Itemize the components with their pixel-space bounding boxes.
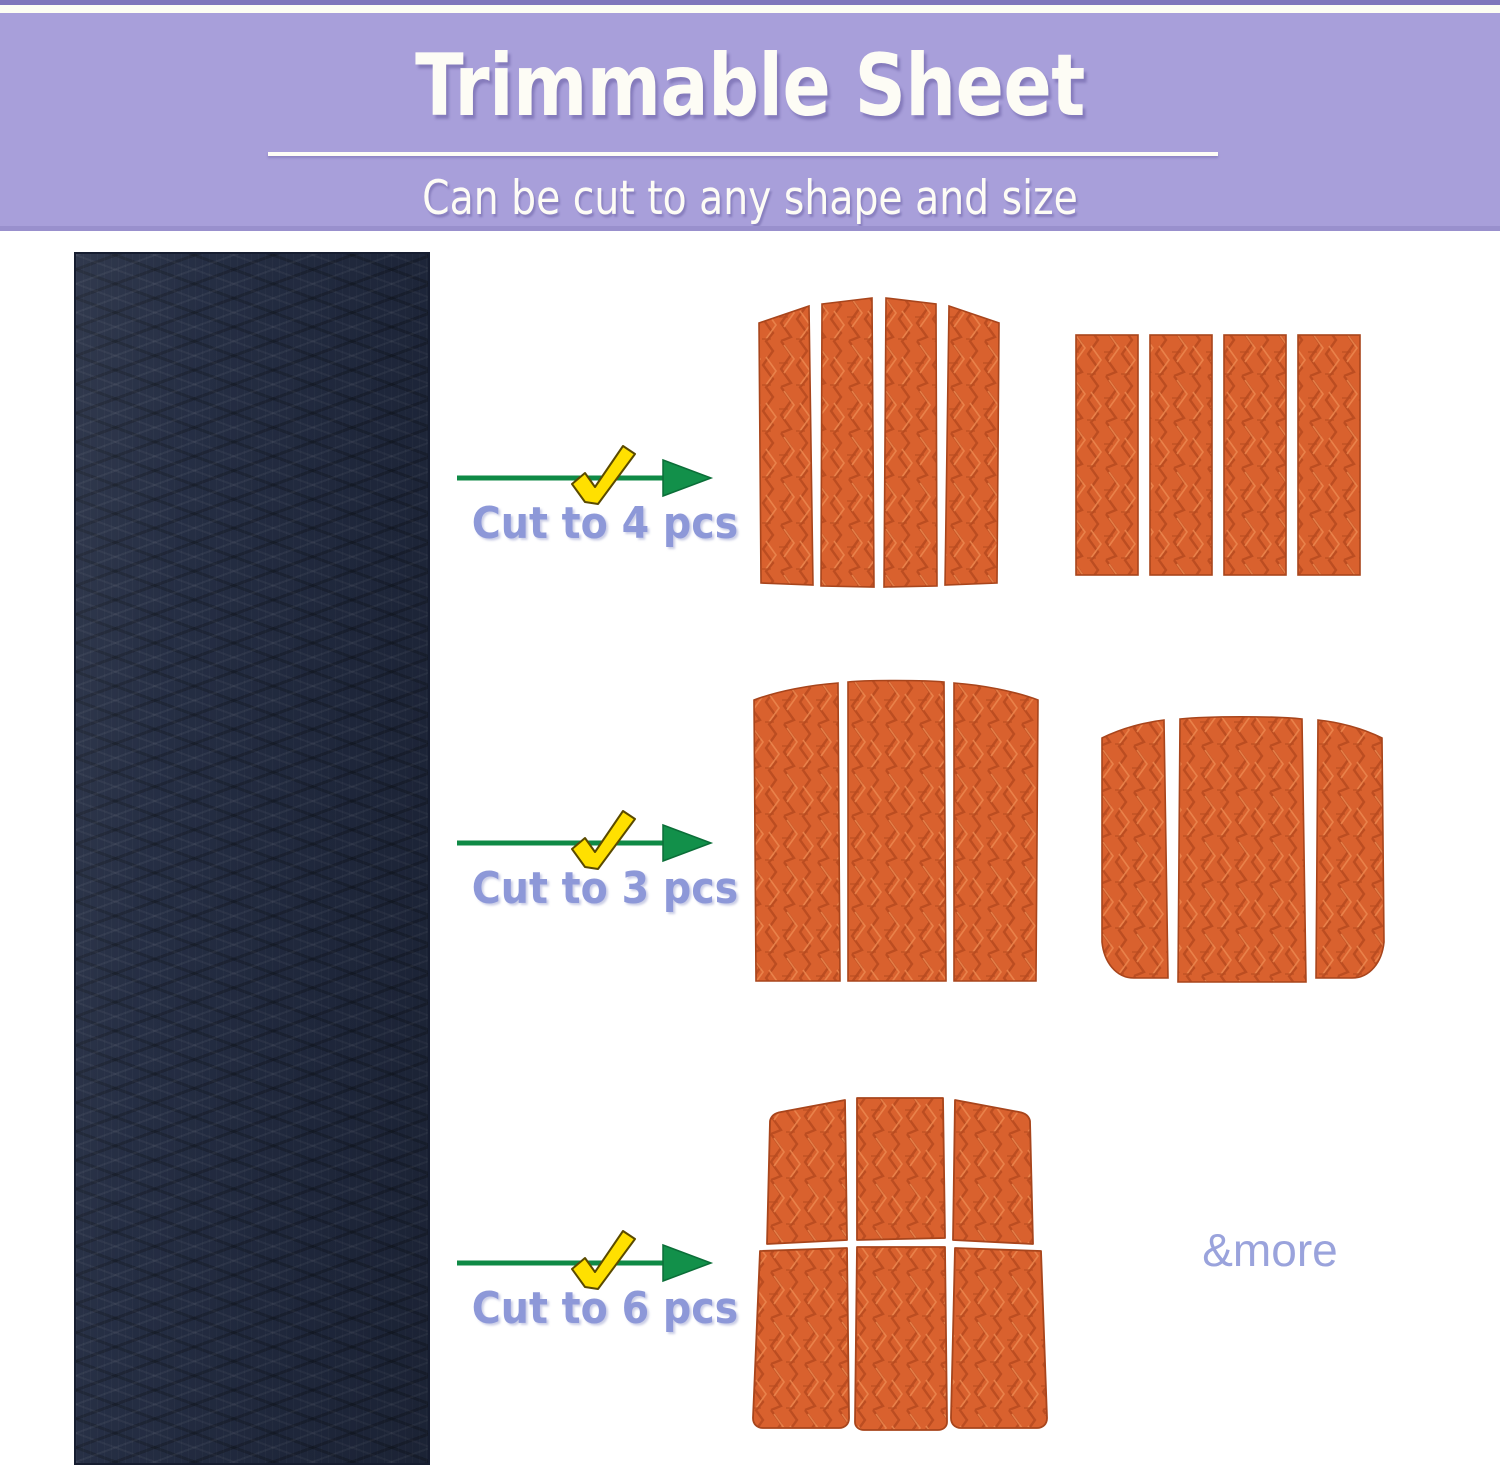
pad-piece [767,1100,847,1244]
pad-piece [754,683,840,981]
arrow-label-4pcs: Cut to 4 pcs [455,498,755,550]
check-mark-icon [572,811,635,869]
pad-piece [953,1100,1033,1244]
pad-group-4-fanned [745,295,1025,590]
more-label: &more [1160,1222,1380,1278]
trimmable-sheet-image [74,252,430,1465]
pad-piece [857,1098,945,1240]
pad-piece [1076,335,1138,575]
arrow-label-3pcs: Cut to 3 pcs [455,863,755,915]
arrow-group-6pcs: Cut to 6 pcs [455,1225,755,1365]
pad-piece [848,681,946,982]
pad-piece [1150,335,1212,575]
pad-piece [1102,720,1168,978]
pad-piece [945,306,999,585]
pad-group-6-grid [735,1088,1065,1433]
pad-piece [884,298,937,587]
arrow-group-4pcs: Cut to 4 pcs [455,440,755,580]
pad-group-3-tail [1098,700,1388,988]
pad-piece [855,1247,947,1430]
pad-piece [1224,335,1286,575]
pad-piece [821,298,874,587]
arrow-group-3pcs: Cut to 3 pcs [455,805,755,945]
banner-bottom-gap [0,231,1500,240]
check-mark-icon [572,446,635,504]
pad-piece [759,306,813,585]
sheet-sheen [76,254,428,1463]
pad-piece [951,1248,1047,1428]
title-divider [268,152,1218,156]
banner-top-rule-inner [0,5,1500,13]
pad-group-4-strips [1070,330,1370,580]
product-infographic: Trimmable Sheet Can be cut to any shape … [0,0,1500,1465]
pad-piece [1178,717,1306,982]
pad-piece [1298,335,1360,575]
page-title: Trimmable Sheet [60,36,1440,136]
pad-piece [753,1248,849,1428]
page-subtitle: Can be cut to any shape and size [53,171,1448,227]
check-mark-icon [572,1231,635,1289]
pad-group-3-deck [748,678,1048,986]
arrow-label-6pcs: Cut to 6 pcs [455,1283,755,1335]
pad-piece [954,683,1038,981]
pad-piece [1316,720,1384,978]
header-banner: Trimmable Sheet Can be cut to any shape … [0,0,1500,240]
